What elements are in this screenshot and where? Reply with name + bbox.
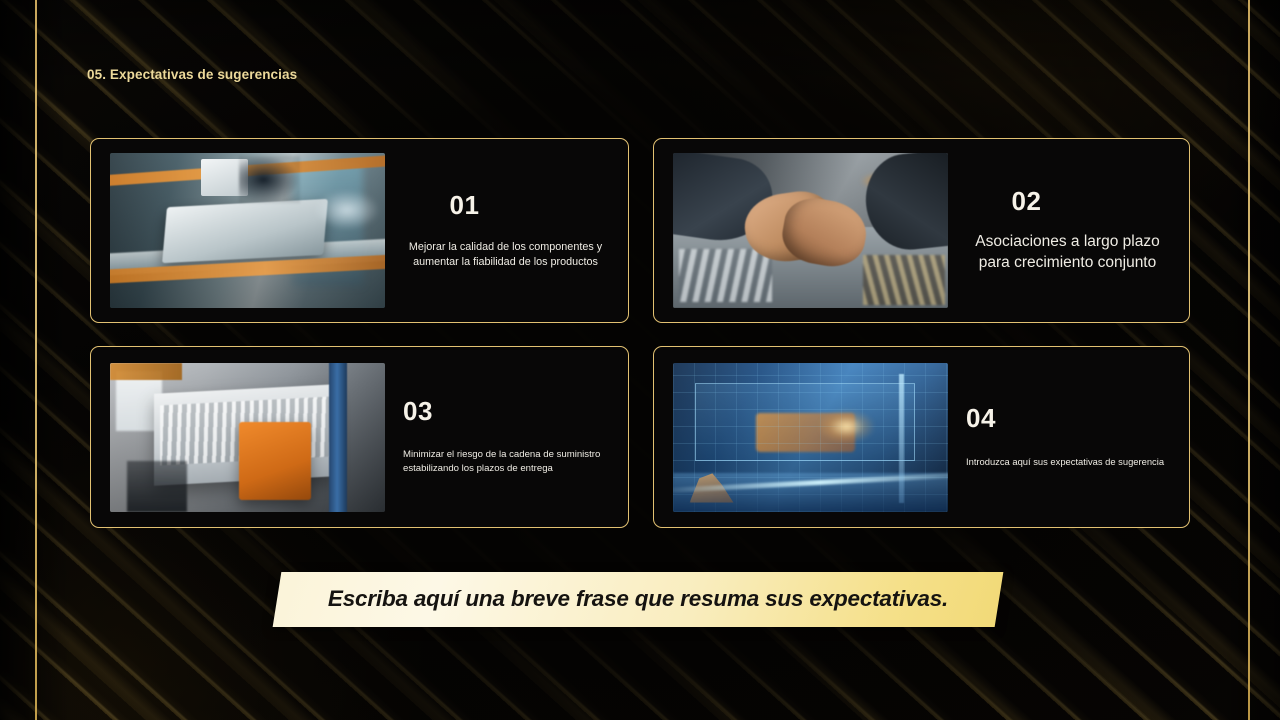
summary-banner-text: Escriba aquí una breve frase que resuma …	[277, 572, 999, 627]
card-number-01: 01	[450, 192, 480, 218]
card-image-03	[110, 363, 385, 512]
card-description-03: Minimizar el riesgo de la cadena de sumi…	[403, 448, 612, 476]
card-image-04	[673, 363, 948, 512]
expectation-card-02[interactable]: 02 Asociaciones a largo plazo para creci…	[653, 138, 1190, 323]
card-number-03: 03	[403, 398, 433, 424]
summary-banner[interactable]: Escriba aquí una breve frase que resuma …	[277, 572, 999, 627]
page-title: 05. Expectativas de sugerencias	[87, 67, 297, 82]
presentation-slide: 05. Expectativas de sugerencias 01 Mejor…	[0, 0, 1280, 720]
card-body-01: 01 Mejorar la calidad de los componentes…	[385, 192, 628, 269]
card-image-01	[110, 153, 385, 308]
card-description-01: Mejorar la calidad de los componentes y …	[399, 240, 612, 269]
card-body-02: 02 Asociaciones a largo plazo para creci…	[948, 188, 1189, 274]
expectation-card-01[interactable]: 01 Mejorar la calidad de los componentes…	[90, 138, 629, 323]
right-gold-rule	[1248, 0, 1250, 720]
card-number-04: 04	[966, 405, 996, 431]
card-image-02	[673, 153, 948, 308]
left-gold-rule	[35, 0, 37, 720]
card-body-04: 04 Introduzca aquí sus expectativas de s…	[948, 405, 1189, 469]
expectation-card-03[interactable]: 03 Minimizar el riesgo de la cadena de s…	[90, 346, 629, 528]
expectation-card-04[interactable]: 04 Introduzca aquí sus expectativas de s…	[653, 346, 1190, 528]
card-description-02: Asociaciones a largo plazo para crecimie…	[962, 231, 1173, 274]
card-number-02: 02	[1012, 188, 1042, 214]
card-body-03: 03 Minimizar el riesgo de la cadena de s…	[385, 398, 628, 476]
card-description-04: Introduzca aquí sus expectativas de suge…	[966, 455, 1164, 469]
